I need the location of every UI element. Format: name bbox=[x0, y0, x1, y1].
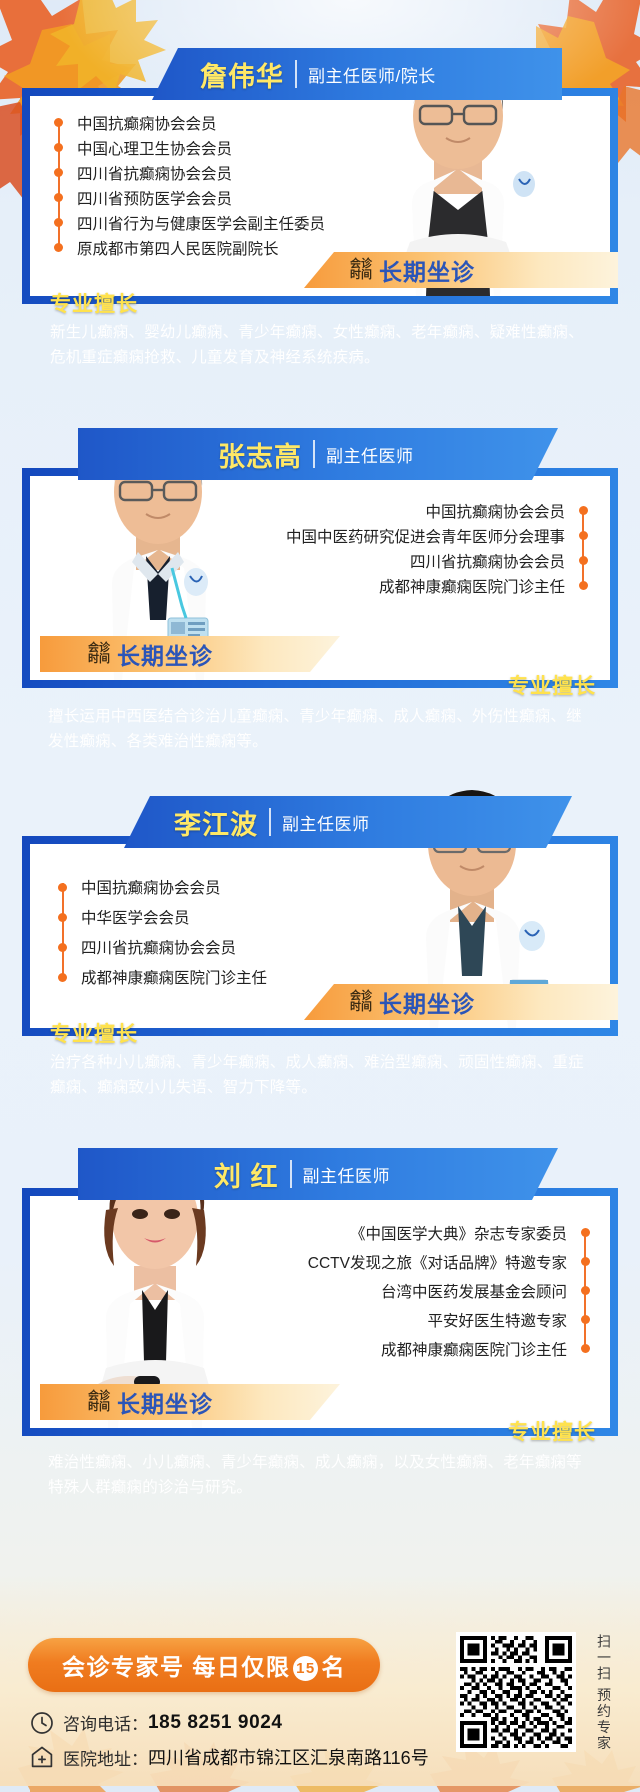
consult-time-label: 会诊 时间 bbox=[88, 643, 110, 665]
credential-text: 平安好医生特邀专家 bbox=[427, 1309, 567, 1331]
list-item: 成都神康癫痫医院门诊主任 bbox=[238, 1334, 590, 1363]
credential-text: 《中国医学大典》杂志专家委员 bbox=[350, 1222, 567, 1244]
doctor-3-name-banner: 李江波 副主任医师 bbox=[124, 796, 572, 848]
list-item: 成都神康癫痫医院门诊主任 bbox=[248, 573, 588, 598]
credential-text: 四川省抗癫痫协会会员 bbox=[81, 936, 236, 958]
doctor-3-name: 李江波 bbox=[174, 803, 258, 842]
appointment-quota-button[interactable]: 会诊专家号 每日仅限15名 bbox=[28, 1638, 380, 1692]
bullet-dot-icon bbox=[579, 581, 588, 590]
list-item: 四川省抗癫痫协会会员 bbox=[54, 160, 325, 185]
credential-text: 中国抗癫痫协会会员 bbox=[81, 876, 221, 898]
bullet-dot-icon bbox=[581, 1228, 590, 1237]
doctor-3-consult-ribbon: 会诊 时间 长期坐诊 bbox=[304, 984, 618, 1020]
scan-instruction-text: 扫一扫 预约专家 bbox=[590, 1634, 614, 1752]
list-item: 中国中医药研究促进会青年医师分会理事 bbox=[248, 523, 588, 548]
credential-text: CCTV发现之旅《对话品牌》特邀专家 bbox=[308, 1251, 567, 1273]
credential-text: 四川省行为与健康医学会副主任委员 bbox=[77, 212, 325, 234]
list-item: 《中国医学大典》杂志专家委员 bbox=[238, 1218, 590, 1247]
credential-text: 中国抗癫痫协会会员 bbox=[425, 500, 565, 522]
bullet-dot-icon bbox=[54, 118, 63, 127]
consult-time-label: 会诊 时间 bbox=[350, 991, 372, 1013]
name-title-divider bbox=[290, 1160, 292, 1188]
credential-text: 四川省抗癫痫协会会员 bbox=[410, 550, 565, 572]
quota-text: 会诊专家号 每日仅限15名 bbox=[62, 1648, 346, 1682]
doctor-3-specialty-text: 治疗各种小儿癫痫、青少年癫痫、成人癫痫、难治型癫痫、顽固性癫痫、重症癫痫、癫痫致… bbox=[50, 1050, 596, 1100]
footer-contact-section: 会诊专家号 每日仅限15名 咨询电话： 185 8251 9024 医院地址： … bbox=[0, 1616, 640, 1786]
address-label: 医院地址： bbox=[63, 1745, 148, 1770]
name-title-divider bbox=[313, 440, 315, 468]
phone-label: 咨询电话： bbox=[63, 1710, 148, 1735]
doctor-3-title: 副主任医师 bbox=[282, 810, 370, 835]
doctor-1-consult-value: 长期坐诊 bbox=[379, 253, 475, 287]
address-value: 四川省成都市锦江区汇泉南路116号 bbox=[148, 1744, 429, 1770]
credential-text: 成都神康癫痫医院门诊主任 bbox=[81, 966, 267, 988]
consult-time-label: 会诊 时间 bbox=[350, 259, 372, 281]
bullet-dot-icon bbox=[581, 1315, 590, 1324]
doctor-1-consult-ribbon: 会诊 时间 长期坐诊 bbox=[304, 252, 618, 288]
doctor-2-consult-ribbon: 会诊 时间 长期坐诊 bbox=[40, 636, 340, 672]
credential-text: 成都神康癫痫医院门诊主任 bbox=[379, 575, 565, 597]
list-item: 中国抗癫痫协会会员 bbox=[54, 110, 325, 135]
credential-text: 中国抗癫痫协会会员 bbox=[77, 112, 217, 134]
clock-icon bbox=[30, 1711, 54, 1735]
bullet-dot-icon bbox=[579, 531, 588, 540]
credential-text: 中国中医药研究促进会青年医师分会理事 bbox=[286, 525, 565, 547]
list-item: 中国心理卫生协会会员 bbox=[54, 135, 325, 160]
doctor-2-name-banner: 张志高 副主任医师 bbox=[78, 428, 558, 480]
phone-value: 185 8251 9024 bbox=[148, 1712, 283, 1734]
credential-text: 四川省抗癫痫协会会员 bbox=[77, 162, 232, 184]
bullet-dot-icon bbox=[58, 973, 67, 982]
doctor-4-name: 刘 红 bbox=[214, 1155, 279, 1194]
bullet-dot-icon bbox=[58, 883, 67, 892]
bullet-dot-icon bbox=[54, 143, 63, 152]
bullet-dot-icon bbox=[579, 556, 588, 565]
quota-number-badge: 15 bbox=[293, 1656, 318, 1681]
doctor-4-title: 副主任医师 bbox=[303, 1162, 391, 1187]
doctor-2-title: 副主任医师 bbox=[326, 442, 414, 467]
list-item: 成都神康癫痫医院门诊主任 bbox=[58, 962, 267, 992]
doctor-4-name-banner: 刘 红 副主任医师 bbox=[78, 1148, 558, 1200]
list-item: 中华医学会会员 bbox=[58, 902, 267, 932]
quota-prefix: 会诊专家号 每日仅限 bbox=[62, 1654, 290, 1680]
hospital-icon bbox=[30, 1745, 54, 1769]
name-title-divider bbox=[269, 808, 271, 836]
list-item: 四川省抗癫痫协会会员 bbox=[58, 932, 267, 962]
consult-label-line2: 时间 bbox=[350, 1002, 372, 1013]
doctor-1-specialty-text: 新生儿癫痫、婴幼儿癫痫、青少年癫痫、女性癫痫、老年癫痫、疑难性癫痫、危机重症癫痫… bbox=[50, 320, 596, 370]
consult-label-line2: 时间 bbox=[88, 1402, 110, 1413]
doctor-4-specialty-text: 难治性癫痫、小儿癫痫、青少年癫痫、成人癫痫，以及女性癫痫、老年癫痫等特殊人群癫痫… bbox=[48, 1450, 596, 1500]
bullet-dot-icon bbox=[58, 943, 67, 952]
phone-row[interactable]: 咨询电话： 185 8251 9024 bbox=[30, 1710, 283, 1735]
doctor-2-credentials: 中国抗癫痫协会会员 中国中医药研究促进会青年医师分会理事 四川省抗癫痫协会会员 … bbox=[248, 498, 588, 598]
credential-text: 中国心理卫生协会会员 bbox=[77, 137, 232, 159]
doctor-1-title: 副主任医师/院长 bbox=[308, 62, 436, 87]
credential-text: 成都神康癫痫医院门诊主任 bbox=[381, 1338, 567, 1360]
doctor-3-consult-value: 长期坐诊 bbox=[379, 985, 475, 1019]
bullet-dot-icon bbox=[54, 243, 63, 252]
bullet-dot-icon bbox=[54, 168, 63, 177]
consult-time-label: 会诊 时间 bbox=[88, 1391, 110, 1413]
doctor-2-name: 张志高 bbox=[218, 435, 302, 474]
doctor-4-specialty-heading: 专业擅长 bbox=[508, 1416, 596, 1446]
doctor-3-credentials: 中国抗癫痫协会会员 中华医学会会员 四川省抗癫痫协会会员 成都神康癫痫医院门诊主… bbox=[58, 872, 267, 992]
consult-label-line2: 时间 bbox=[350, 270, 372, 281]
doctor-2-specialty-heading: 专业擅长 bbox=[508, 670, 596, 700]
bullet-dot-icon bbox=[581, 1286, 590, 1295]
doctor-4-consult-ribbon: 会诊 时间 长期坐诊 bbox=[40, 1384, 340, 1420]
doctor-4-credentials: 《中国医学大典》杂志专家委员 CCTV发现之旅《对话品牌》特邀专家 台湾中医药发… bbox=[238, 1218, 590, 1363]
list-item: 中国抗癫痫协会会员 bbox=[248, 498, 588, 523]
credential-text: 中华医学会会员 bbox=[81, 906, 190, 928]
credential-text: 四川省预防医学会会员 bbox=[77, 187, 232, 209]
address-row: 医院地址： 四川省成都市锦江区汇泉南路116号 bbox=[30, 1744, 429, 1770]
credential-text: 台湾中医药发展基金会顾问 bbox=[381, 1280, 567, 1302]
doctor-2-specialty-text: 擅长运用中西医结合诊治儿童癫痫、青少年癫痫、成人癫痫、外伤性癫痫、继发性癫痫、各… bbox=[48, 704, 596, 754]
doctor-4-consult-value: 长期坐诊 bbox=[117, 1385, 213, 1419]
bullet-dot-icon bbox=[54, 193, 63, 202]
list-item: 四川省抗癫痫协会会员 bbox=[248, 548, 588, 573]
list-item: 原成都市第四人民医院副院长 bbox=[54, 235, 325, 260]
name-title-divider bbox=[295, 60, 297, 88]
list-item: CCTV发现之旅《对话品牌》特邀专家 bbox=[238, 1247, 590, 1276]
bullet-dot-icon bbox=[581, 1344, 590, 1353]
bullet-dot-icon bbox=[579, 506, 588, 515]
doctor-3-specialty-heading: 专业擅长 bbox=[50, 1018, 138, 1048]
list-item: 四川省预防医学会会员 bbox=[54, 185, 325, 210]
doctor-2-consult-value: 长期坐诊 bbox=[117, 637, 213, 671]
bullet-dot-icon bbox=[581, 1257, 590, 1266]
list-item: 中国抗癫痫协会会员 bbox=[58, 872, 267, 902]
bullet-dot-icon bbox=[54, 218, 63, 227]
doctor-1-specialty-heading: 专业擅长 bbox=[50, 288, 138, 318]
credential-text: 原成都市第四人民医院副院长 bbox=[77, 237, 279, 259]
bullet-dot-icon bbox=[58, 913, 67, 922]
consult-label-line2: 时间 bbox=[88, 654, 110, 665]
list-item: 台湾中医药发展基金会顾问 bbox=[238, 1276, 590, 1305]
qr-code[interactable] bbox=[456, 1632, 576, 1752]
list-item: 平安好医生特邀专家 bbox=[238, 1305, 590, 1334]
list-item: 四川省行为与健康医学会副主任委员 bbox=[54, 210, 325, 235]
quota-suffix: 名 bbox=[321, 1654, 346, 1680]
doctor-1-name: 詹伟华 bbox=[200, 55, 284, 94]
doctor-1-name-banner: 詹伟华 副主任医师/院长 bbox=[152, 48, 562, 100]
doctor-1-credentials: 中国抗癫痫协会会员 中国心理卫生协会会员 四川省抗癫痫协会会员 四川省预防医学会… bbox=[54, 110, 325, 260]
